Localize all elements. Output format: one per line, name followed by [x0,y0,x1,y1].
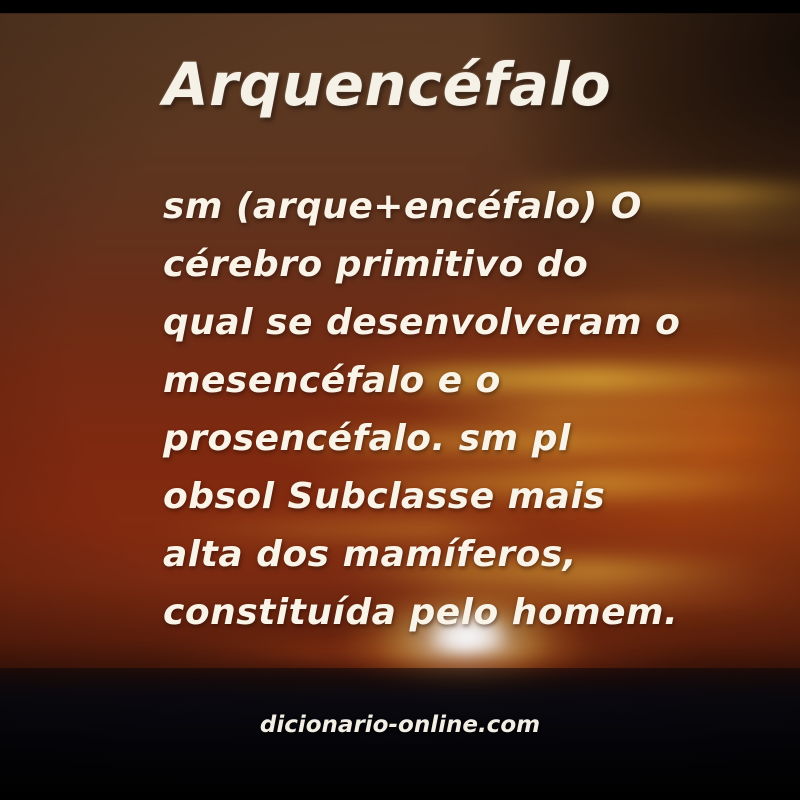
definition-line: obsol Subclasse mais [163,468,683,526]
definition-text: sm (arque+encéfalo) O cérebro primitivo … [163,178,683,642]
definition-line: qual se desenvolveram o [163,294,683,352]
card-content: Arquencéfalo sm (arque+encéfalo) O céreb… [0,0,800,800]
definition-line: constituída pelo homem. [163,584,683,642]
definition-line: prosencéfalo. sm pl [163,410,683,468]
definition-line: cérebro primitivo do [163,236,683,294]
definition-card: Arquencéfalo sm (arque+encéfalo) O céreb… [0,0,800,800]
definition-line: mesencéfalo e o [163,352,683,410]
site-watermark: dicionario-online.com [0,712,800,738]
page-title: Arquencéfalo [163,55,611,114]
definition-line: alta dos mamíferos, [163,526,683,584]
definition-line: sm (arque+encéfalo) O [163,178,683,236]
